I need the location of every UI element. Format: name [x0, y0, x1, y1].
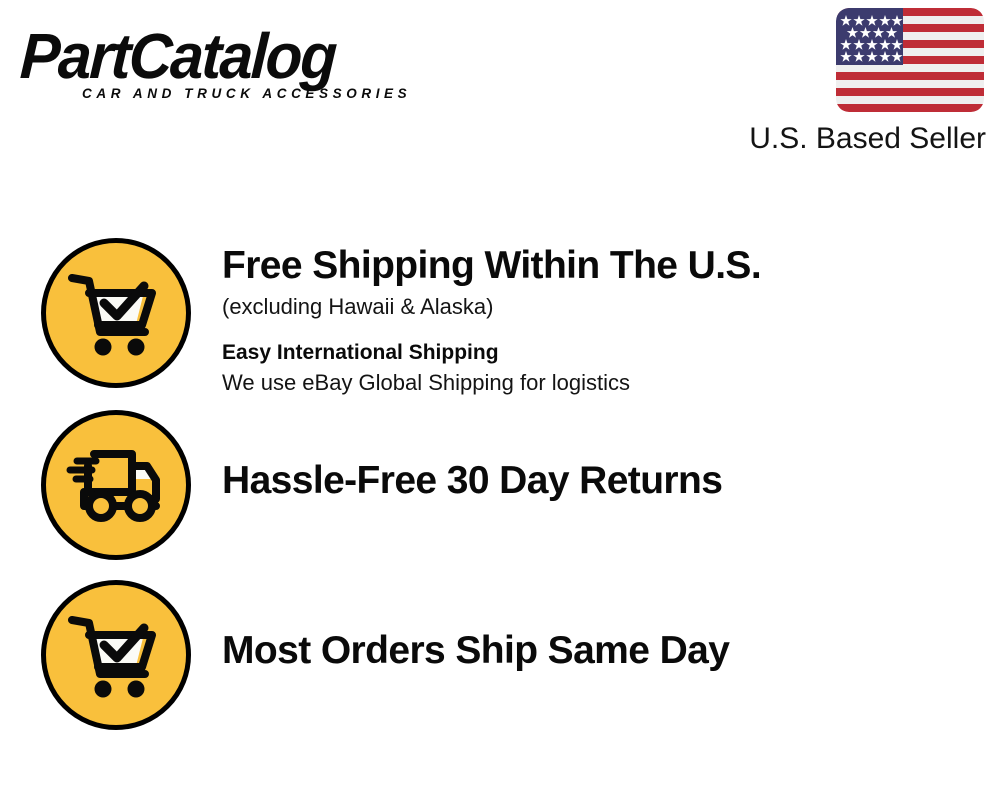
feature-title: Most Orders Ship Same Day	[222, 627, 1000, 674]
feature-row-same-day-ship: Most Orders Ship Same Day	[0, 580, 1000, 730]
feature-title: Free Shipping Within The U.S.	[222, 242, 1000, 289]
feature-subtitle: We use eBay Global Shipping for logistic…	[222, 368, 1000, 398]
feature-title: Hassle-Free 30 Day Returns	[222, 457, 1000, 504]
feature-row-returns: Hassle-Free 30 Day Returns	[0, 410, 1000, 560]
us-based-seller-label: U.S. Based Seller	[656, 121, 986, 157]
us-flag-icon	[836, 8, 984, 112]
feature-subtitle-strong: Easy International Shipping	[222, 338, 1000, 367]
feature-note: (excluding Hawaii & Alaska)	[222, 292, 1000, 322]
feature-row-free-shipping: Free Shipping Within The U.S. (excluding…	[0, 238, 1000, 398]
delivery-truck-icon	[41, 410, 191, 560]
seller-info-banner: PartCatalog CAR AND TRUCK ACCESSORIES	[0, 0, 1000, 800]
shopping-cart-check-icon	[41, 238, 191, 388]
us-based-seller-badge: U.S. Based Seller	[656, 8, 986, 157]
brand-wordmark: PartCatalog	[19, 22, 464, 90]
shopping-cart-check-icon	[41, 580, 191, 730]
feature-text-returns: Hassle-Free 30 Day Returns	[222, 410, 1000, 504]
brand-logo: PartCatalog CAR AND TRUCK ACCESSORIES	[22, 22, 492, 112]
feature-text-free-shipping: Free Shipping Within The U.S. (excluding…	[222, 238, 1000, 398]
feature-text-same-day-ship: Most Orders Ship Same Day	[222, 580, 1000, 674]
banner-header: PartCatalog CAR AND TRUCK ACCESSORIES	[0, 0, 1000, 170]
